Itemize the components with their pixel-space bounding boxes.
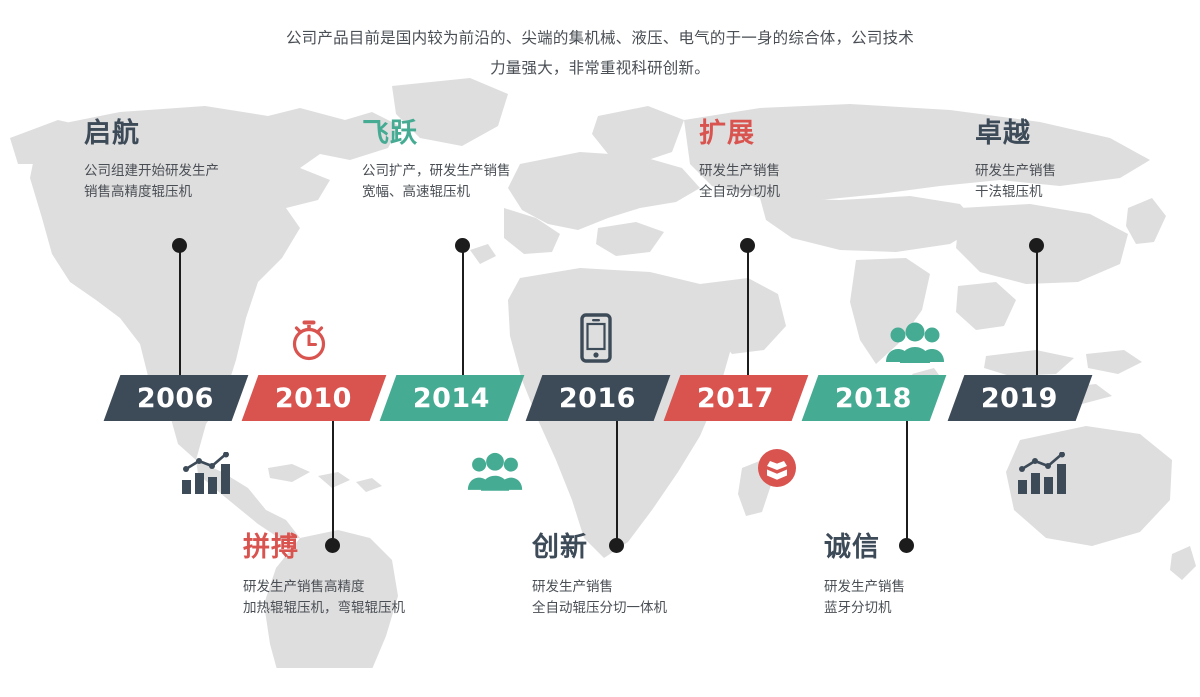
timeline-segment-2006[interactable]: 2006 [104,375,249,421]
milestone-2016[interactable]: 创新 研发生产销售 全自动辊压分切一体机 [532,530,832,618]
timeline-segment-2014[interactable]: 2014 [380,375,525,421]
milestone-2019[interactable]: 卓越 研发生产销售 干法辊压机 [975,116,1200,202]
timeline-year-2016: 2016 [559,383,636,414]
milestone-desc-2016-line1: 研发生产销售 [532,576,832,597]
timeline-segment-2017[interactable]: 2017 [664,375,809,421]
milestone-title-2017: 扩展 [699,116,959,150]
connector-stem-2006 [179,250,181,376]
milestone-desc-2010-line1: 研发生产销售高精度 [243,576,543,597]
milestone-title-2016: 创新 [532,530,832,564]
timeline-year-2006: 2006 [137,383,214,414]
milestone-desc-2017-line2: 全自动分切机 [699,181,959,202]
timeline-segment-2019[interactable]: 2019 [948,375,1093,421]
bar-chart-growth-icon [180,452,232,496]
header-paragraph: 公司产品目前是国内较为前沿的、尖端的集机械、液压、电气的于一身的综合体，公司技术… [0,24,1200,84]
milestone-2018[interactable]: 诚信 研发生产销售 蓝牙分切机 [824,530,1124,618]
timeline-year-2014: 2014 [413,383,490,414]
milestone-desc-2017: 研发生产销售 全自动分切机 [699,160,959,202]
milestone-desc-2019: 研发生产销售 干法辊压机 [975,160,1200,202]
connector-stem-2019 [1036,250,1038,376]
milestone-desc-2017-line1: 研发生产销售 [699,160,959,181]
connector-dot-2010 [325,538,340,553]
milestone-desc-2018: 研发生产销售 蓝牙分切机 [824,576,1124,618]
milestone-desc-2019-line1: 研发生产销售 [975,160,1200,181]
open-box-badge-icon [757,448,797,488]
milestone-desc-2018-line2: 蓝牙分切机 [824,597,1124,618]
timeline-bar: 2006 2010 2014 2016 2017 2018 2019 [0,375,1200,421]
connector-dot-2018 [899,538,914,553]
milestone-desc-2018-line1: 研发生产销售 [824,576,1124,597]
milestone-2006[interactable]: 启航 公司组建开始研发生产 销售高精度辊压机 [84,116,344,202]
milestone-title-2018: 诚信 [824,530,1124,564]
connector-stem-2010 [332,420,334,542]
people-group-icon [466,452,524,494]
milestone-2010[interactable]: 拼搏 研发生产销售高精度 加热辊辊压机，弯辊辊压机 [243,530,543,618]
milestone-desc-2019-line2: 干法辊压机 [975,181,1200,202]
header-line-2: 力量强大，非常重视科研创新。 [0,54,1200,84]
milestone-title-2019: 卓越 [975,116,1200,150]
timeline-year-2018: 2018 [835,383,912,414]
timeline-year-2010: 2010 [275,383,352,414]
timeline-infographic-slide: 公司产品目前是国内较为前沿的、尖端的集机械、液压、电气的于一身的综合体，公司技术… [0,0,1200,697]
people-group-icon [884,322,946,366]
milestone-2017[interactable]: 扩展 研发生产销售 全自动分切机 [699,116,959,202]
connector-stem-2017 [747,250,749,376]
connector-stem-2016 [616,420,618,542]
milestone-desc-2006: 公司组建开始研发生产 销售高精度辊压机 [84,160,344,202]
timeline-segment-2010[interactable]: 2010 [242,375,387,421]
milestone-title-2014: 飞跃 [362,116,622,150]
timeline-year-2019: 2019 [981,383,1058,414]
milestone-desc-2016-line2: 全自动辊压分切一体机 [532,597,832,618]
connector-stem-2014 [462,250,464,376]
smartphone-icon [580,313,612,363]
milestone-desc-2006-line2: 销售高精度辊压机 [84,181,344,202]
milestone-desc-2014: 公司扩产，研发生产销售 宽幅、高速辊压机 [362,160,622,202]
timeline-segment-2018[interactable]: 2018 [802,375,947,421]
timeline-year-2017: 2017 [697,383,774,414]
milestone-desc-2014-line1: 公司扩产，研发生产销售 [362,160,622,181]
header-line-1: 公司产品目前是国内较为前沿的、尖端的集机械、液压、电气的于一身的综合体，公司技术 [286,30,914,47]
milestone-desc-2010-line2: 加热辊辊压机，弯辊辊压机 [243,597,543,618]
stopwatch-icon [286,314,332,364]
milestone-title-2010: 拼搏 [243,530,543,564]
milestone-desc-2016: 研发生产销售 全自动辊压分切一体机 [532,576,832,618]
milestone-2014[interactable]: 飞跃 公司扩产，研发生产销售 宽幅、高速辊压机 [362,116,622,202]
timeline-segment-2016[interactable]: 2016 [526,375,671,421]
bar-chart-growth-icon [1016,452,1068,496]
milestone-title-2006: 启航 [84,116,344,150]
milestone-desc-2006-line1: 公司组建开始研发生产 [84,160,344,181]
milestone-desc-2014-line2: 宽幅、高速辊压机 [362,181,622,202]
connector-dot-2016 [609,538,624,553]
connector-stem-2018 [906,420,908,542]
milestone-desc-2010: 研发生产销售高精度 加热辊辊压机，弯辊辊压机 [243,576,543,618]
